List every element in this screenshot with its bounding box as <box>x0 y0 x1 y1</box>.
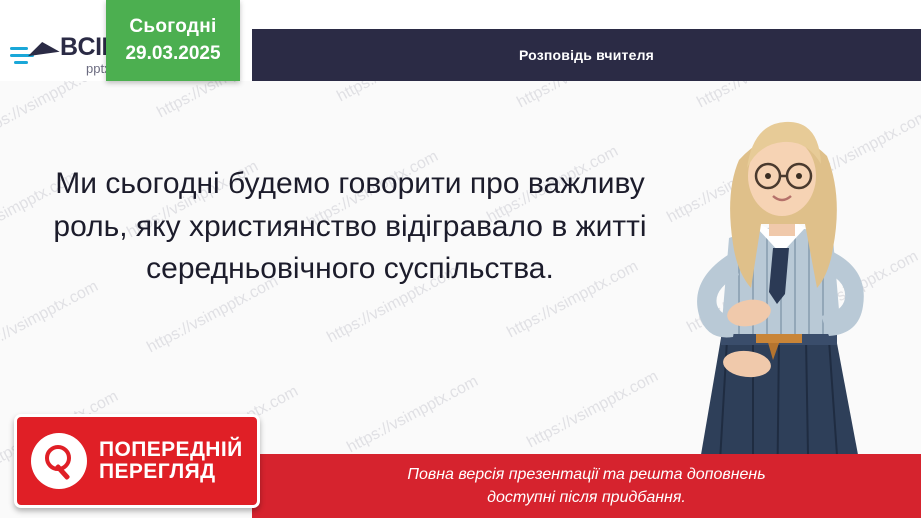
watermark-text: https://vsimpptx.com <box>154 81 291 122</box>
watermark-text: https://vsimpptx.com <box>514 81 651 112</box>
purchase-banner: Повна версія презентації та решта доповн… <box>252 454 921 518</box>
watermark-text: https://vsimpptx.com <box>524 368 661 452</box>
preview-badge-line1: ПОПЕРЕДНІЙ <box>99 439 243 461</box>
date-badge-label: Сьогодні <box>129 16 216 38</box>
graduation-cap-icon <box>10 38 56 72</box>
watermark-text: https://vsimpptx.com <box>344 373 481 457</box>
watermark-text: https://vsimpptx.com <box>0 81 112 142</box>
purchase-banner-line2: доступні після придбання. <box>487 486 686 509</box>
header-bar: Розповідь вчителя <box>252 29 921 81</box>
header-title: Розповідь вчителя <box>519 47 654 63</box>
preview-badge[interactable]: ПОПЕРЕДНІЙ ПЕРЕГЛЯД <box>14 414 260 508</box>
purchase-banner-line1: Повна версія презентації та решта доповн… <box>407 463 765 486</box>
slide-main-text: Ми сьогодні будемо говорити про важливу … <box>30 163 670 291</box>
magnifier-icon <box>31 433 87 489</box>
watermark-text: https://vsimpptx.com <box>334 81 471 106</box>
date-badge: Сьогодні 29.03.2025 <box>106 0 240 81</box>
slide-canvas: https://vsimpptx.com https://vsimpptx.co… <box>0 0 921 518</box>
date-badge-value: 29.03.2025 <box>125 43 220 65</box>
preview-badge-line2: ПЕРЕГЛЯД <box>99 461 243 483</box>
